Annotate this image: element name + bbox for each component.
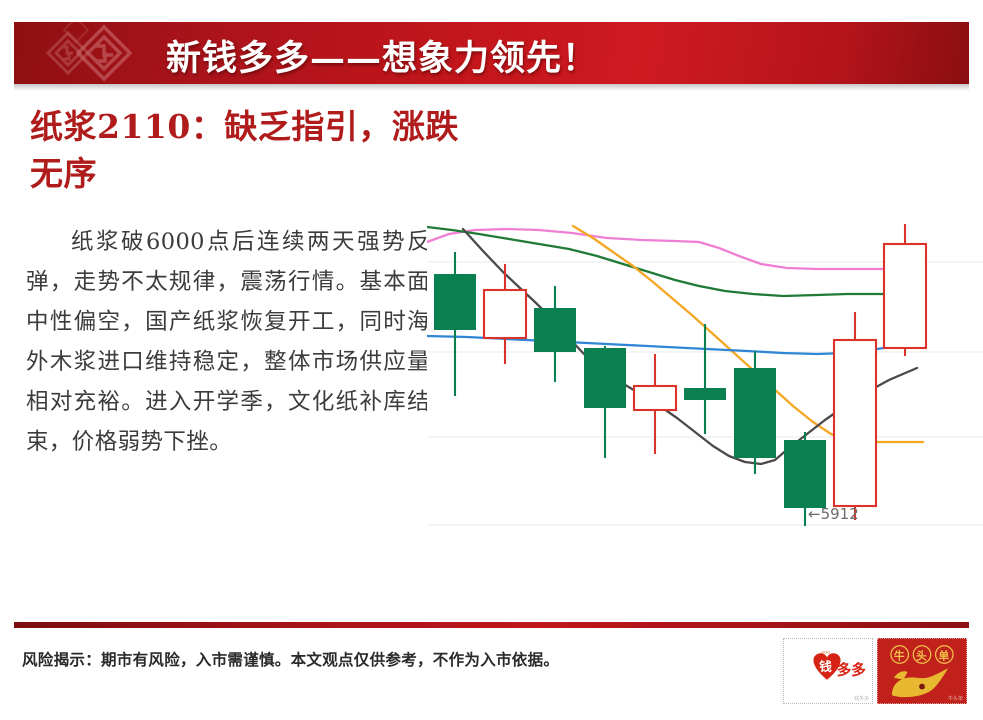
header-banner: 新钱多多——想象力领先！ (14, 22, 969, 84)
footer-disclaimer: 风险揭示：期市有风险，入市需谨慎。本文观点仅供参考，不作为入市依据。 (22, 648, 559, 670)
candle-4 (584, 346, 626, 458)
svg-text:钱: 钱 (819, 659, 832, 674)
ma-line-pink (427, 229, 897, 269)
qianduoduo-logo-art: 钱 多多 QDD (784, 639, 872, 703)
qianduoduo-logo-caption: 钱多多 (854, 695, 869, 702)
svg-text:牛: 牛 (894, 649, 905, 662)
candle-2 (484, 264, 526, 364)
niutoudan-logo: 牛 头 单 牛头单 (877, 638, 967, 704)
svg-text:多多: 多多 (837, 661, 867, 679)
candle-10 (884, 224, 926, 356)
candle-5 (634, 354, 676, 454)
diamond-knot-emblem-icon (28, 22, 148, 84)
svg-text:QDD: QDD (821, 650, 830, 655)
qianduoduo-logo: 钱 多多 QDD 钱多多 (783, 638, 873, 704)
footer-logos: 钱 多多 QDD 钱多多 牛 头 单 牛头单 (783, 638, 970, 704)
page-title: 纸浆2110：缺乏指引，涨跌无序 (30, 104, 460, 198)
candle-9 (834, 312, 876, 520)
candle-7 (734, 351, 776, 474)
svg-text:头: 头 (916, 649, 927, 662)
niutoudan-logo-art: 牛 头 单 (878, 639, 966, 703)
svg-text:单: 单 (938, 649, 949, 662)
body-paragraph: 纸浆破6000点后连续两天强势反弹，走势不太规律，震荡行情。基本面中性偏空，国产… (26, 222, 430, 462)
banner-shadow (14, 84, 969, 91)
candlestick-chart: ←5912 (427, 196, 983, 536)
banner-title: 新钱多多——想象力领先！ (166, 30, 598, 81)
last-price-annotation: ←5912 (808, 505, 859, 523)
niutoudan-logo-caption: 牛头单 (948, 695, 963, 702)
chart-svg: ←5912 (427, 196, 983, 536)
candle-1 (434, 252, 476, 396)
candle-3 (534, 286, 576, 382)
footer-divider (14, 622, 969, 628)
